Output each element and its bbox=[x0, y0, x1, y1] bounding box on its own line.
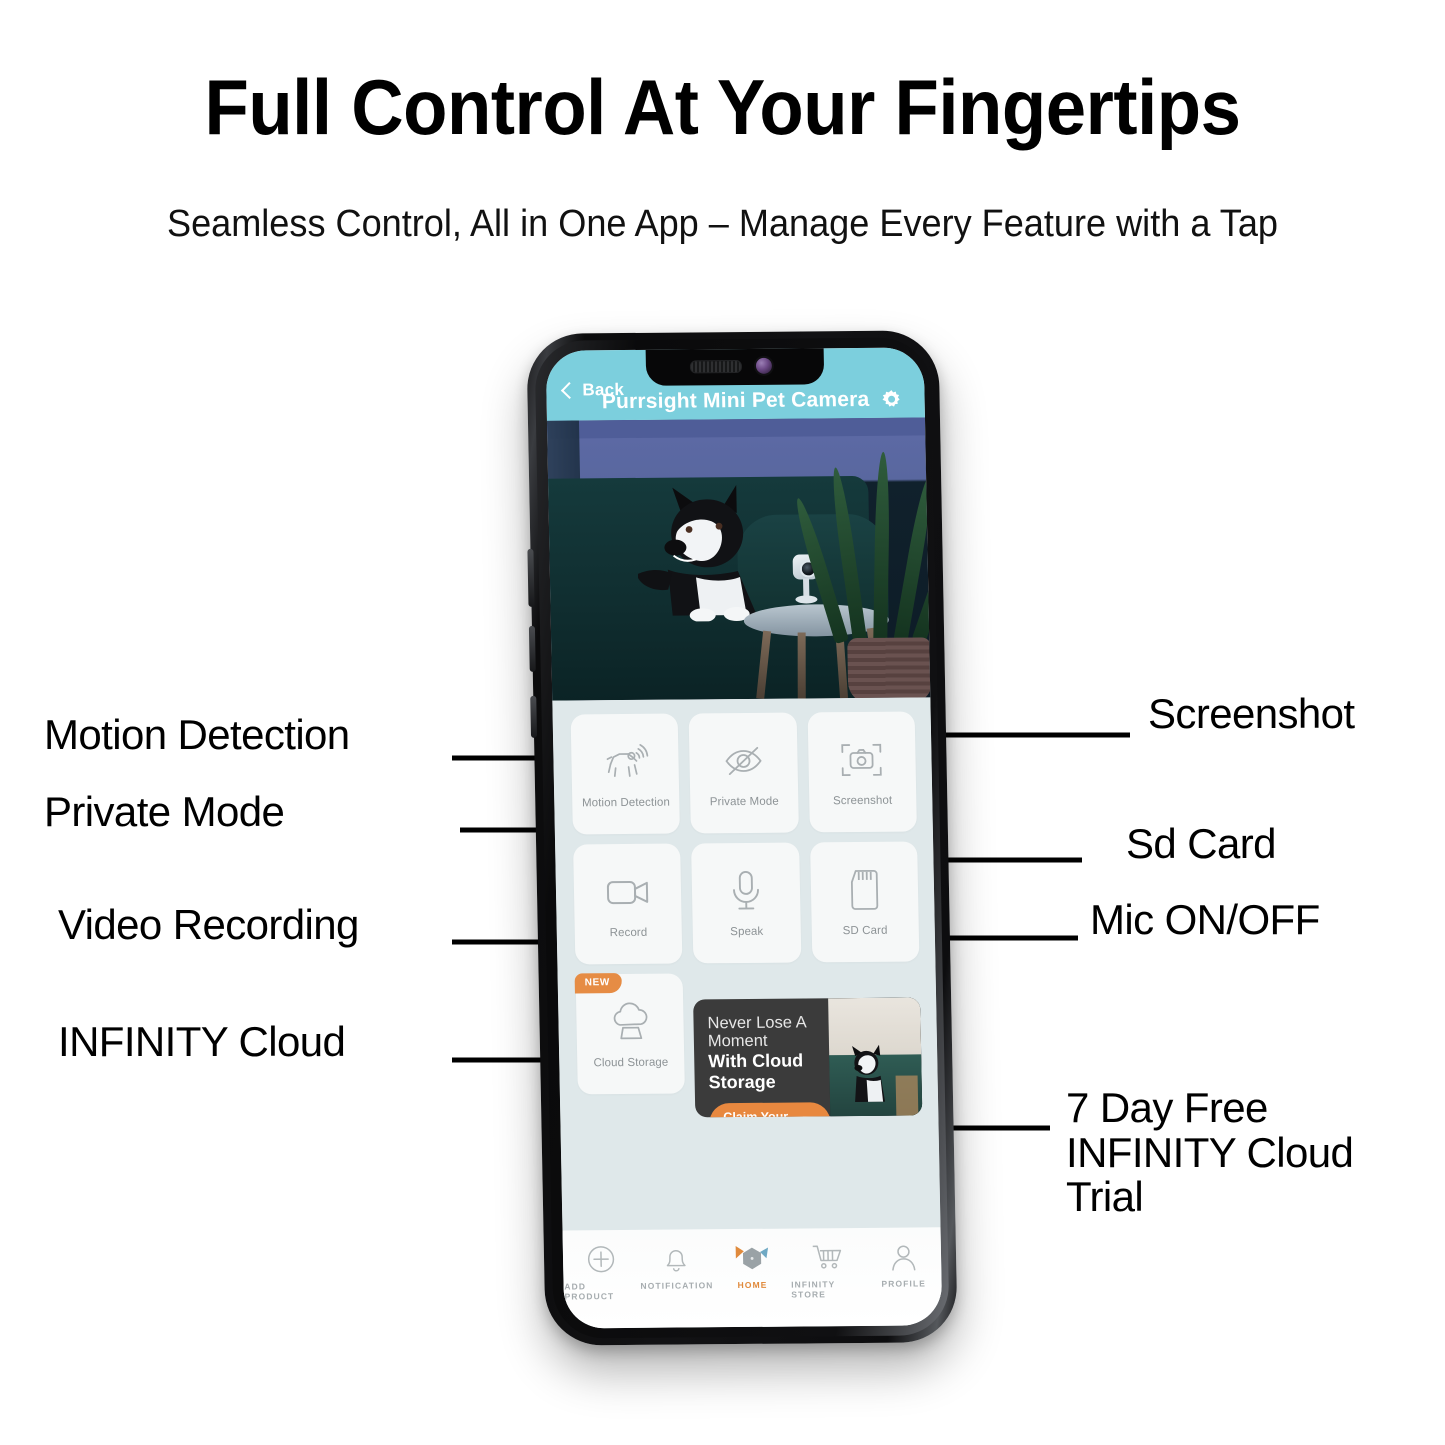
nav-label: HOME bbox=[738, 1280, 768, 1290]
page-title: Full Control At Your Fingertips bbox=[51, 68, 1395, 146]
tile-sd-card[interactable]: SD Card bbox=[810, 841, 920, 962]
annotation-video-recording: Video Recording bbox=[58, 903, 359, 948]
nav-label: ADD PRODUCT bbox=[564, 1281, 638, 1302]
nav-item-home[interactable]: HOME bbox=[715, 1241, 790, 1291]
feed-plant bbox=[828, 447, 931, 698]
tile-label: Speak bbox=[730, 926, 763, 938]
feed-stool-leg bbox=[798, 632, 806, 698]
tile-label: Private Mode bbox=[710, 796, 779, 809]
annotation-cloud-trial: 7 Day Free INFINITY Cloud Trial bbox=[1066, 1086, 1353, 1220]
tile-label: Cloud Storage bbox=[593, 1057, 668, 1070]
camera-capture-icon bbox=[837, 737, 886, 783]
poster-canvas: Full Control At Your Fingertips Seamless… bbox=[0, 0, 1445, 1445]
nav-item-add-product[interactable]: ADD PRODUCT bbox=[564, 1242, 639, 1302]
app-title: Purrsight Mini Pet Camera bbox=[546, 387, 924, 414]
annotation-motion-detection: Motion Detection bbox=[44, 713, 350, 758]
shopping-cart-icon bbox=[811, 1240, 844, 1274]
person-icon bbox=[888, 1239, 918, 1273]
tile-label: Record bbox=[610, 927, 648, 939]
tile-label: Motion Detection bbox=[582, 797, 670, 810]
feed-wall-top bbox=[547, 417, 925, 438]
new-badge: NEW bbox=[575, 973, 623, 993]
tile-motion-detection[interactable]: Motion Detection bbox=[571, 714, 681, 835]
power-button[interactable] bbox=[530, 696, 537, 738]
microphone-icon bbox=[722, 868, 771, 914]
feed-dog bbox=[636, 481, 789, 622]
nav-item-infinity-store[interactable]: INFINITY STORE bbox=[790, 1240, 865, 1300]
promo-line-1: Never Lose A Moment bbox=[707, 1013, 829, 1050]
nav-item-profile[interactable]: PROFILE bbox=[866, 1239, 941, 1289]
tile-label: SD Card bbox=[843, 925, 888, 937]
bell-icon bbox=[662, 1241, 691, 1275]
promo-line-2: With Cloud Storage bbox=[708, 1051, 830, 1093]
eye-slash-icon bbox=[719, 738, 768, 784]
tile-cloud-storage[interactable]: NEW Cloud Storage bbox=[576, 974, 686, 1095]
promo-cta-button[interactable]: Claim Your Free 7-Days bbox=[709, 1102, 831, 1118]
promo-banner[interactable]: Never Lose A Moment With Cloud Storage C… bbox=[693, 997, 922, 1117]
annotation-private-mode: Private Mode bbox=[44, 790, 284, 835]
earpiece-speaker-icon bbox=[690, 360, 742, 373]
tile-speak[interactable]: Speak bbox=[691, 843, 801, 964]
gear-icon[interactable] bbox=[878, 388, 904, 414]
phone-notch bbox=[646, 347, 825, 385]
tile-screenshot[interactable]: Screenshot bbox=[807, 711, 917, 832]
home-hexagon-icon bbox=[734, 1241, 771, 1275]
promo-dog-icon bbox=[847, 1044, 890, 1102]
sd-card-icon bbox=[840, 867, 889, 913]
nav-label: NOTIFICATION bbox=[640, 1280, 713, 1291]
live-video-feed[interactable] bbox=[547, 417, 930, 700]
volume-down-button[interactable] bbox=[529, 626, 536, 672]
phone-screen: Back Purrsight Mini Pet Camera bbox=[546, 347, 943, 1328]
annotation-sd-card: Sd Card bbox=[1126, 822, 1276, 867]
volume-up-button[interactable] bbox=[527, 549, 534, 607]
phone-mockup: Back Purrsight Mini Pet Camera bbox=[526, 330, 957, 1345]
annotation-infinity-cloud: INFINITY Cloud bbox=[58, 1020, 345, 1065]
front-camera-icon bbox=[756, 358, 772, 374]
plus-circle-icon bbox=[586, 1242, 617, 1276]
control-panel: Motion Detection Private Mode bbox=[552, 697, 942, 1328]
video-camera-icon bbox=[603, 869, 652, 915]
bottom-navigation: ADD PRODUCT NOTIFICATION bbox=[563, 1227, 943, 1328]
tile-label: Screenshot bbox=[833, 795, 892, 808]
promo-image bbox=[828, 997, 922, 1116]
cloud-upload-icon bbox=[606, 999, 655, 1045]
nav-label: INFINITY STORE bbox=[791, 1279, 865, 1300]
page-subtitle: Seamless Control, All in One App – Manag… bbox=[36, 205, 1409, 243]
nav-label: PROFILE bbox=[881, 1278, 926, 1288]
annotation-screenshot: Screenshot bbox=[1148, 692, 1354, 737]
dog-motion-icon bbox=[601, 739, 650, 785]
annotation-mic-on-off: Mic ON/OFF bbox=[1090, 898, 1320, 943]
tile-record[interactable]: Record bbox=[573, 844, 683, 965]
tile-private-mode[interactable]: Private Mode bbox=[689, 713, 799, 834]
nav-item-notification[interactable]: NOTIFICATION bbox=[639, 1241, 714, 1291]
